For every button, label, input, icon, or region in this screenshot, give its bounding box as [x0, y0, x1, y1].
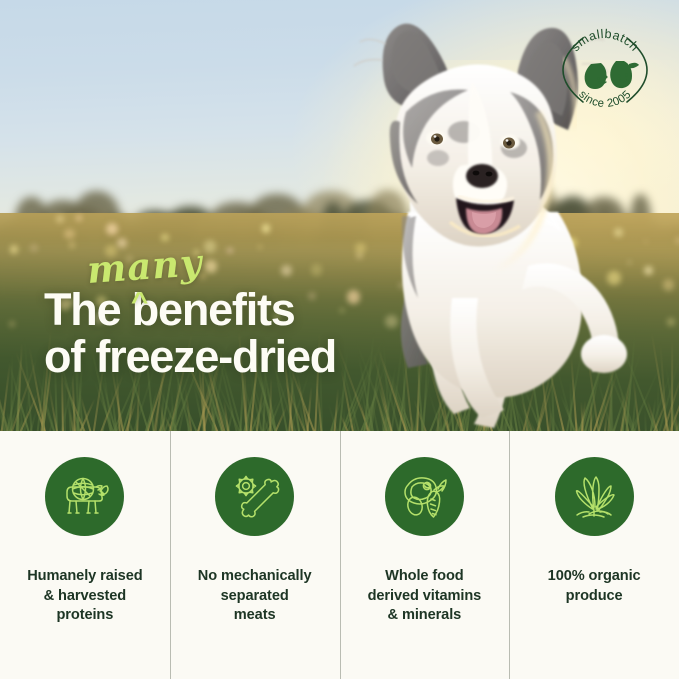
caption-line: derived vitamins [368, 587, 482, 607]
hero-copy: many ^ The benefits of freeze-dried [44, 248, 336, 380]
benefits-row: Humanely raised & harvested proteins [0, 431, 679, 679]
caption-line: No mechanically [198, 567, 312, 587]
hero-photo: many ^ The benefits of freeze-dried smal… [0, 0, 679, 431]
caption-line: produce [548, 587, 641, 607]
svg-text:since 2005: since 2005 [576, 88, 633, 110]
benefit-column-no-separated-meats: No mechanically separated meats [170, 431, 340, 679]
caption-line: 100% organic [548, 567, 641, 587]
caret-insertion-mark: ^ [131, 288, 148, 314]
cat-face-leaf-mark [610, 61, 639, 88]
steak-egg-carrot-icon [385, 457, 464, 536]
benefit-column-organic-produce: 100% organic produce [509, 431, 679, 679]
benefit-caption: 100% organic produce [548, 567, 641, 606]
svg-text:smallbatch: smallbatch [568, 27, 642, 54]
caption-line: Whole food [368, 567, 482, 587]
cow-no-hormones-icon [45, 457, 124, 536]
gear-bone-icon [215, 457, 294, 536]
caption-line: & minerals [368, 606, 482, 626]
benefit-column-humanely-raised: Humanely raised & harvested proteins [0, 431, 170, 679]
benefit-caption: Whole food derived vitamins & minerals [368, 567, 482, 626]
page-title: The benefits of freeze-dried [44, 287, 336, 380]
caption-line: & harvested [27, 587, 142, 607]
caption-line: proteins [27, 606, 142, 626]
sprouting-plant-icon [555, 457, 634, 536]
benefit-column-whole-food-vitamins: Whole food derived vitamins & minerals [340, 431, 510, 679]
promotional-banner: many ^ The benefits of freeze-dried smal… [0, 0, 679, 679]
brand-logo[interactable]: smallbatch since 2005 [553, 18, 657, 122]
script-accent-word: many [86, 244, 204, 289]
caption-line: meats [198, 606, 312, 626]
benefit-caption: Humanely raised & harvested proteins [27, 567, 142, 626]
dog-face-leaf-mark [585, 63, 608, 89]
headline-line-2: of freeze-dried [44, 334, 336, 380]
headline-line-1: The benefits [44, 284, 295, 335]
caption-line: separated [198, 587, 312, 607]
caption-line: Humanely raised [27, 567, 142, 587]
benefit-caption: No mechanically separated meats [198, 567, 312, 626]
